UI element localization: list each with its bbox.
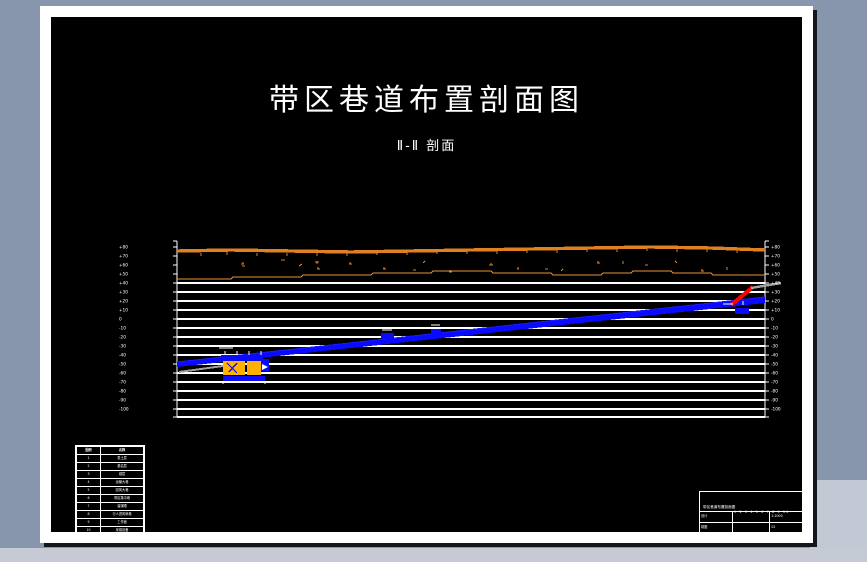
right-tick-12: -40 bbox=[771, 353, 778, 358]
soil-symbols bbox=[241, 260, 727, 272]
title-block-col-values bbox=[733, 512, 770, 533]
left-tick-6: +20 bbox=[119, 299, 128, 304]
legend-symbol: 3 bbox=[77, 471, 101, 479]
legend-row[interactable]: 6 带区集中巷 bbox=[77, 495, 144, 503]
legend-row[interactable]: 4 运输大巷 bbox=[77, 479, 144, 487]
title-block-field-label: 制图 bbox=[700, 523, 732, 533]
drawing-sheet: 带区巷道布置剖面图 Ⅱ-Ⅱ 剖面 bbox=[40, 6, 813, 543]
title-block-col-signatures: 设计 制图 审核 bbox=[700, 512, 733, 533]
title-block-field-label: 设计 bbox=[700, 512, 732, 523]
left-tick-13: -50 bbox=[119, 362, 126, 367]
left-tick-16: -80 bbox=[119, 389, 126, 394]
shearer-body-left bbox=[223, 361, 245, 375]
left-tick-12: -40 bbox=[119, 353, 126, 358]
right-tick-15: -70 bbox=[771, 380, 778, 385]
left-tick-0: +80 bbox=[119, 245, 128, 250]
right-tick-16: -80 bbox=[771, 389, 778, 394]
legend-symbol: 9 bbox=[77, 519, 101, 527]
legend-symbol: 4 bbox=[77, 479, 101, 487]
legend-row[interactable]: 5 回风大巷 bbox=[77, 487, 144, 495]
right-tick-13: -50 bbox=[771, 362, 778, 367]
equipment-frame-top bbox=[221, 355, 263, 361]
title-block-header: 带区巷道布置剖面图 bbox=[700, 492, 803, 512]
coal-seam-roadway-edge bbox=[177, 297, 765, 362]
right-tick-11: -30 bbox=[771, 344, 778, 349]
legend-symbol: 5 bbox=[77, 487, 101, 495]
left-tick-15: -70 bbox=[119, 380, 126, 385]
shaft-station-box bbox=[735, 308, 749, 314]
legend-row[interactable]: 10 采煤设备 bbox=[77, 527, 144, 534]
legend-name: 煤层 bbox=[101, 471, 144, 479]
right-tick-1: +70 bbox=[771, 254, 780, 259]
left-tick-8: 0 bbox=[119, 317, 122, 322]
shearer-body-right bbox=[247, 361, 261, 375]
left-tick-3: +50 bbox=[119, 272, 128, 277]
left-axis-ticks bbox=[173, 247, 177, 409]
equipment-frame-bottom bbox=[223, 376, 265, 381]
right-tick-18: -100 bbox=[771, 407, 781, 412]
legend-name: 行人进风斜巷 bbox=[101, 511, 144, 519]
legend-name: 表土层 bbox=[101, 455, 144, 463]
left-tick-14: -60 bbox=[119, 371, 126, 376]
left-tick-9: -10 bbox=[119, 326, 126, 331]
right-tick-8: 0 bbox=[771, 317, 774, 322]
right-tick-7: +10 bbox=[771, 308, 780, 313]
right-tick-0: +80 bbox=[771, 245, 780, 250]
roadway-marker-1 bbox=[381, 333, 394, 339]
legend-row[interactable]: 2 基岩层 bbox=[77, 463, 144, 471]
legend-row[interactable]: 8 行人进风斜巷 bbox=[77, 511, 144, 519]
left-tick-4: +40 bbox=[119, 281, 128, 286]
left-tick-2: +60 bbox=[119, 263, 128, 268]
legend-symbol: 8 bbox=[77, 511, 101, 519]
legend-row[interactable]: 3 煤层 bbox=[77, 471, 144, 479]
legend-row[interactable]: 9 工作面 bbox=[77, 519, 144, 527]
coal-seam-roadway bbox=[177, 297, 765, 367]
legend-symbol: 6 bbox=[77, 495, 101, 503]
legend-symbol: 1 bbox=[77, 455, 101, 463]
strata-grid-lines bbox=[177, 283, 765, 417]
legend-name: 基岩层 bbox=[101, 463, 144, 471]
legend-header-name: 名称 bbox=[101, 447, 144, 455]
title-block-drawing-title: 带区巷道布置剖面图 bbox=[703, 505, 735, 510]
left-tick-1: +70 bbox=[119, 254, 128, 259]
right-tick-4: +40 bbox=[771, 281, 780, 286]
legend-symbol: 7 bbox=[77, 503, 101, 511]
right-tick-6: +20 bbox=[771, 299, 780, 304]
left-tick-5: +30 bbox=[119, 290, 128, 295]
page-subtitle: Ⅱ-Ⅱ 剖面 bbox=[51, 135, 802, 154]
legend-symbol: 10 bbox=[77, 527, 101, 534]
cad-canvas[interactable]: 带区巷道布置剖面图 Ⅱ-Ⅱ 剖面 bbox=[50, 16, 803, 533]
left-tick-17: -90 bbox=[119, 398, 126, 403]
legend-name: 工作面 bbox=[101, 519, 144, 527]
right-tick-17: -90 bbox=[771, 398, 778, 403]
right-tick-2: +60 bbox=[771, 263, 780, 268]
legend-table[interactable]: 图例 名称 1 表土层 2 基岩层 3 煤层 4 运输大巷 bbox=[75, 445, 145, 533]
title-block-field-value[interactable] bbox=[733, 523, 769, 533]
left-tick-10: -20 bbox=[119, 335, 126, 340]
title-block[interactable]: 带区巷道布置剖面图 1 2 3 4 5 6 7 8 9 10 设计 制图 审核 … bbox=[699, 491, 803, 533]
left-tick-7: +10 bbox=[119, 308, 128, 313]
roadway-marker-2 bbox=[431, 329, 441, 334]
right-tick-10: -20 bbox=[771, 335, 778, 340]
legend-name: 回风大巷 bbox=[101, 487, 144, 495]
legend-symbol: 2 bbox=[77, 463, 101, 471]
background-panel-bottom bbox=[0, 548, 867, 562]
right-tick-5: +30 bbox=[771, 290, 780, 295]
left-tick-11: -30 bbox=[119, 344, 126, 349]
bedrock-boundary-line bbox=[177, 271, 765, 279]
legend-name: 运输大巷 bbox=[101, 479, 144, 487]
legend-header-row: 图例 名称 bbox=[77, 447, 144, 455]
legend-row[interactable]: 1 表土层 bbox=[77, 455, 144, 463]
title-block-col-meta: 1:2000 02 bbox=[770, 512, 803, 533]
legend-name: 溜煤眼 bbox=[101, 503, 144, 511]
right-tick-9: -10 bbox=[771, 326, 778, 331]
page-title: 带区巷道布置剖面图 bbox=[51, 75, 802, 119]
title-block-grid: 设计 制图 审核 1:2000 02 bbox=[700, 512, 803, 533]
legend-name: 带区集中巷 bbox=[101, 495, 144, 503]
profile-section-drawing[interactable] bbox=[131, 233, 803, 425]
title-block-number: 02 bbox=[770, 523, 803, 533]
title-block-ruler: 1 2 3 4 5 6 7 8 9 10 bbox=[734, 510, 789, 514]
legend-header-symbol: 图例 bbox=[77, 447, 101, 455]
legend-row[interactable]: 7 溜煤眼 bbox=[77, 503, 144, 511]
right-tick-3: +50 bbox=[771, 272, 780, 277]
haulage-line bbox=[179, 366, 223, 372]
legend-name: 采煤设备 bbox=[101, 527, 144, 534]
right-tick-14: -60 bbox=[771, 371, 778, 376]
left-tick-18: -100 bbox=[119, 407, 129, 412]
